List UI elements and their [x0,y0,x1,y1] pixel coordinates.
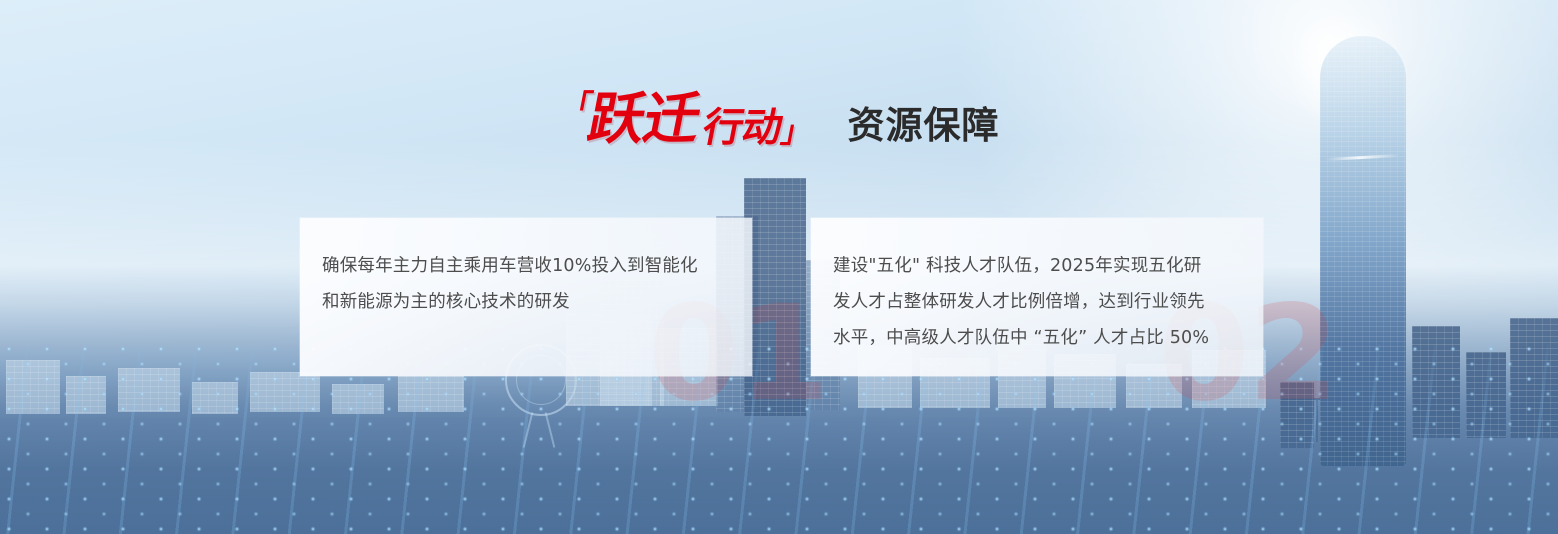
content-card-02: 建设"五化" 科技人才队伍，2025年实现五化研 发人才占整体研发人才比例倍增，… [811,218,1263,376]
yueqian-action-logo: 「 跃迁 行动 」 [553,92,819,148]
logo-quote-close: 」 [778,118,813,148]
logo-quote-open: 「 [558,92,593,122]
card-01-text: 确保每年主力自主乘用车营收10%投入到智能化 和新能源为主的核心技术的研发 [322,248,730,320]
card-02-text: 建设"五化" 科技人才队伍，2025年实现五化研 发人才占整体研发人才比例倍增，… [833,248,1241,356]
logo-lockup: 「 跃迁 行动 」 资源保障 [559,92,1000,148]
content-cards: 确保每年主力自主乘用车营收10%投入到智能化 和新能源为主的核心技术的研发 建设… [300,218,1263,376]
slide-canvas: 「 跃迁 行动 」 资源保障 01 02 确保每年主力自主乘用车营收10%投入到… [0,0,1558,534]
content-card-01: 确保每年主力自主乘用车营收10%投入到智能化 和新能源为主的核心技术的研发 [300,218,752,376]
logo-sub-text: 行动 [699,108,785,148]
logo-main-text: 跃迁 [583,92,704,148]
tower-glint [1326,154,1400,161]
page-title: 资源保障 [848,107,1000,148]
slide-header: 「 跃迁 行动 」 资源保障 [0,92,1558,148]
